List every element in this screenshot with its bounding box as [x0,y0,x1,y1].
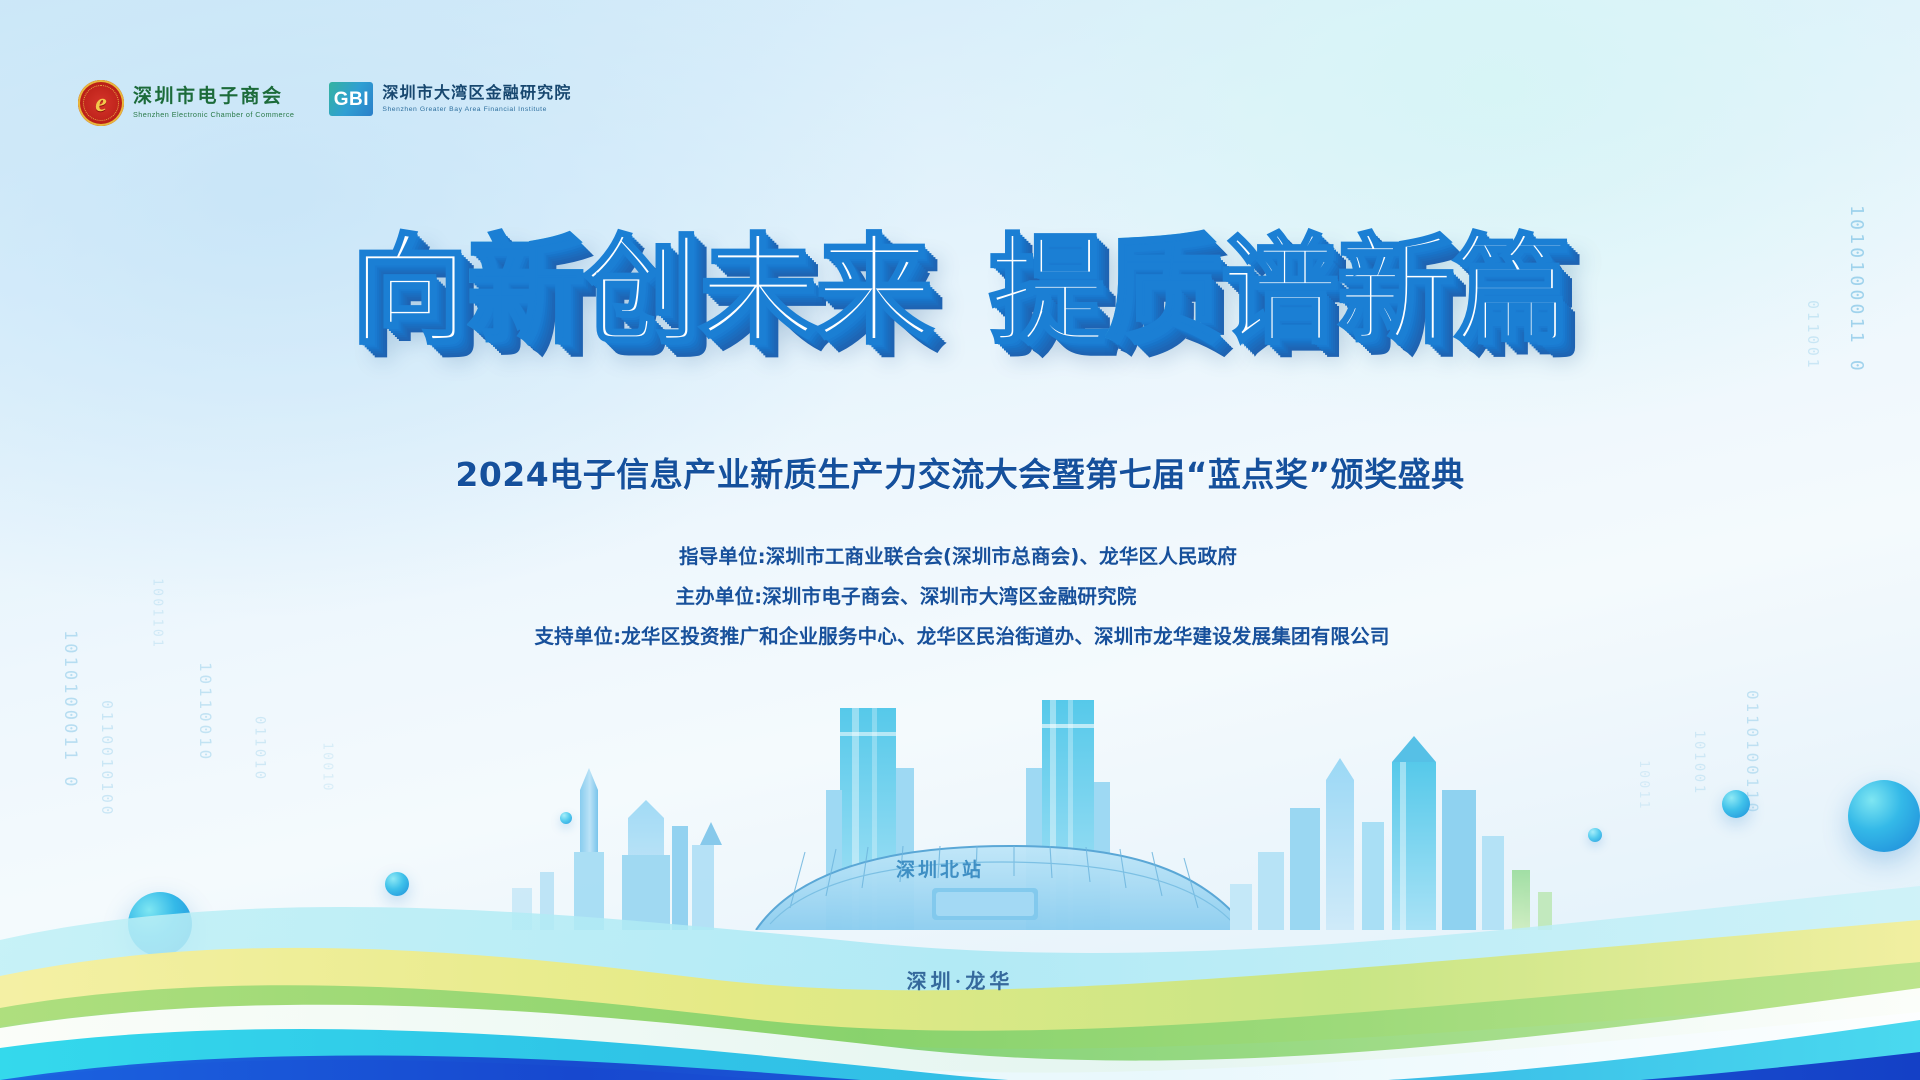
headline-char: 篇 [1453,232,1569,350]
wave-graphics [0,790,1920,1080]
headline-char: 向 [351,232,467,350]
headline-phrase-1: 向新创未来 [351,319,931,336]
city-label: 深圳·龙华 [0,965,1920,994]
organizer-block: 指导单位:深圳市工商业联合会(深圳市总商会)、龙华区人民政府 主办单位:深圳市电… [0,540,1920,649]
logo-bar: e 深圳市电子商会 Shenzhen Electronic Chamber of… [78,80,572,126]
headline-char-accent: 新 [467,232,583,350]
seal-glyph: e [78,80,124,126]
organizer-line-host: 主办单位:深圳市电子商会、深圳市大湾区金融研究院 [675,580,1136,609]
banner-canvas: 1010100011 0 0110010100 1001101 10110010… [0,0,1920,1080]
logo-text-block: 深圳市电子商会 Shenzhen Electronic Chamber of C… [133,87,299,119]
seal-emblem-icon: e [78,80,124,126]
logo-name-en: Shenzhen Greater Bay Area Financial Inst… [382,106,571,113]
gbi-glyph: GBI [334,90,369,109]
gbi-monogram-icon: GBI [329,82,373,116]
headline-char: 创 [583,232,699,350]
event-subtitle: 2024电子信息产业新质生产力交流大会暨第七届“蓝点奖”颁奖盛典 [0,448,1920,496]
headline-char: 未 [699,232,815,350]
headline-char-accent: 质 [1105,232,1221,350]
headline-char: 来 [815,232,931,350]
logo-name-cn: 深圳市大湾区金融研究院 [382,85,571,103]
organizer-line-guidance: 指导单位:深圳市工商业联合会(深圳市总商会)、龙华区人民政府 [679,540,1237,569]
logo-shenzhen-electronic-chamber: e 深圳市电子商会 Shenzhen Electronic Chamber of… [78,80,299,126]
headline-char: 新 [1337,232,1453,350]
headline-char: 谱 [1221,232,1337,350]
headline-char: 提 [989,232,1105,350]
headline: 向新创未来提质谱新篇 [0,232,1920,350]
logo-name-cn: 深圳市电子商会 [133,87,299,108]
logo-text-block: 深圳市大湾区金融研究院 Shenzhen Greater Bay Area Fi… [382,85,571,112]
headline-phrase-2: 提质谱新篇 [989,319,1569,336]
logo-name-en: Shenzhen Electronic Chamber of Commerce [133,110,294,119]
logo-gbi-institute: GBI 深圳市大湾区金融研究院 Shenzhen Greater Bay Are… [329,82,571,116]
